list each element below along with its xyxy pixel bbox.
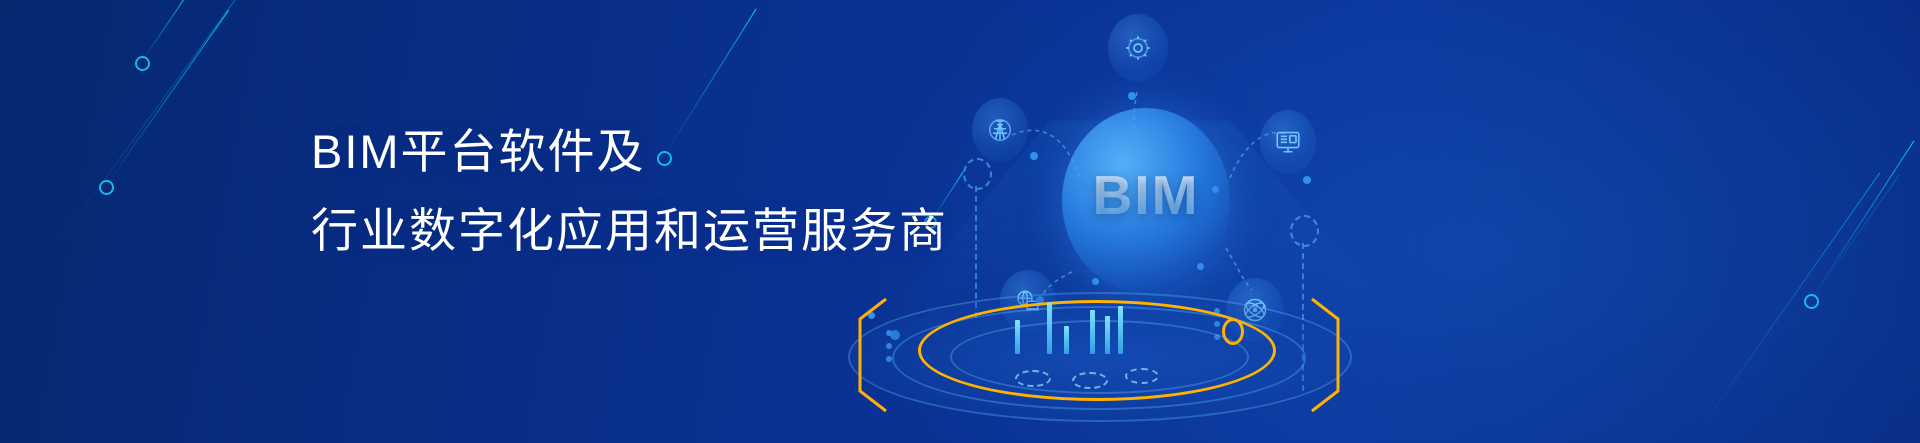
node-bubble-monitor-document[interactable] <box>1260 110 1316 174</box>
power-tower-icon <box>985 115 1015 145</box>
hero-banner: BIM平台软件及 行业数字化应用和运营服务商 BIM <box>0 0 1920 443</box>
node-dot <box>1030 152 1038 160</box>
gear-icon <box>1123 33 1153 63</box>
data-bar <box>1064 326 1069 354</box>
sphere-node-dot <box>1212 186 1219 193</box>
sphere-node-dot <box>1092 278 1099 285</box>
data-bar <box>1015 320 1020 354</box>
node-dot <box>1303 176 1311 184</box>
node-dot <box>1128 92 1136 100</box>
node-bubble-power-tower[interactable] <box>972 98 1028 162</box>
bracket-left <box>852 295 892 415</box>
bracket-right <box>1306 295 1346 415</box>
bim-illustration: BIM <box>840 0 1460 443</box>
ring-marker <box>1015 370 1051 387</box>
ring-marker <box>1125 368 1159 384</box>
accent-circle-orange <box>1222 318 1244 345</box>
sphere-node-dot <box>1140 114 1147 121</box>
data-bar <box>1118 306 1123 354</box>
data-bar <box>1047 302 1052 354</box>
data-bar <box>1105 316 1110 354</box>
bim-label: BIM <box>1062 163 1230 227</box>
node-bubble-gear[interactable] <box>1108 14 1168 82</box>
sphere-node-dot <box>1080 182 1087 189</box>
monitor-document-icon <box>1273 127 1303 157</box>
ring-marker <box>1072 372 1108 389</box>
sphere-node-dot <box>1197 263 1204 270</box>
data-bar <box>1090 310 1095 354</box>
bim-sphere: BIM <box>1062 108 1230 293</box>
